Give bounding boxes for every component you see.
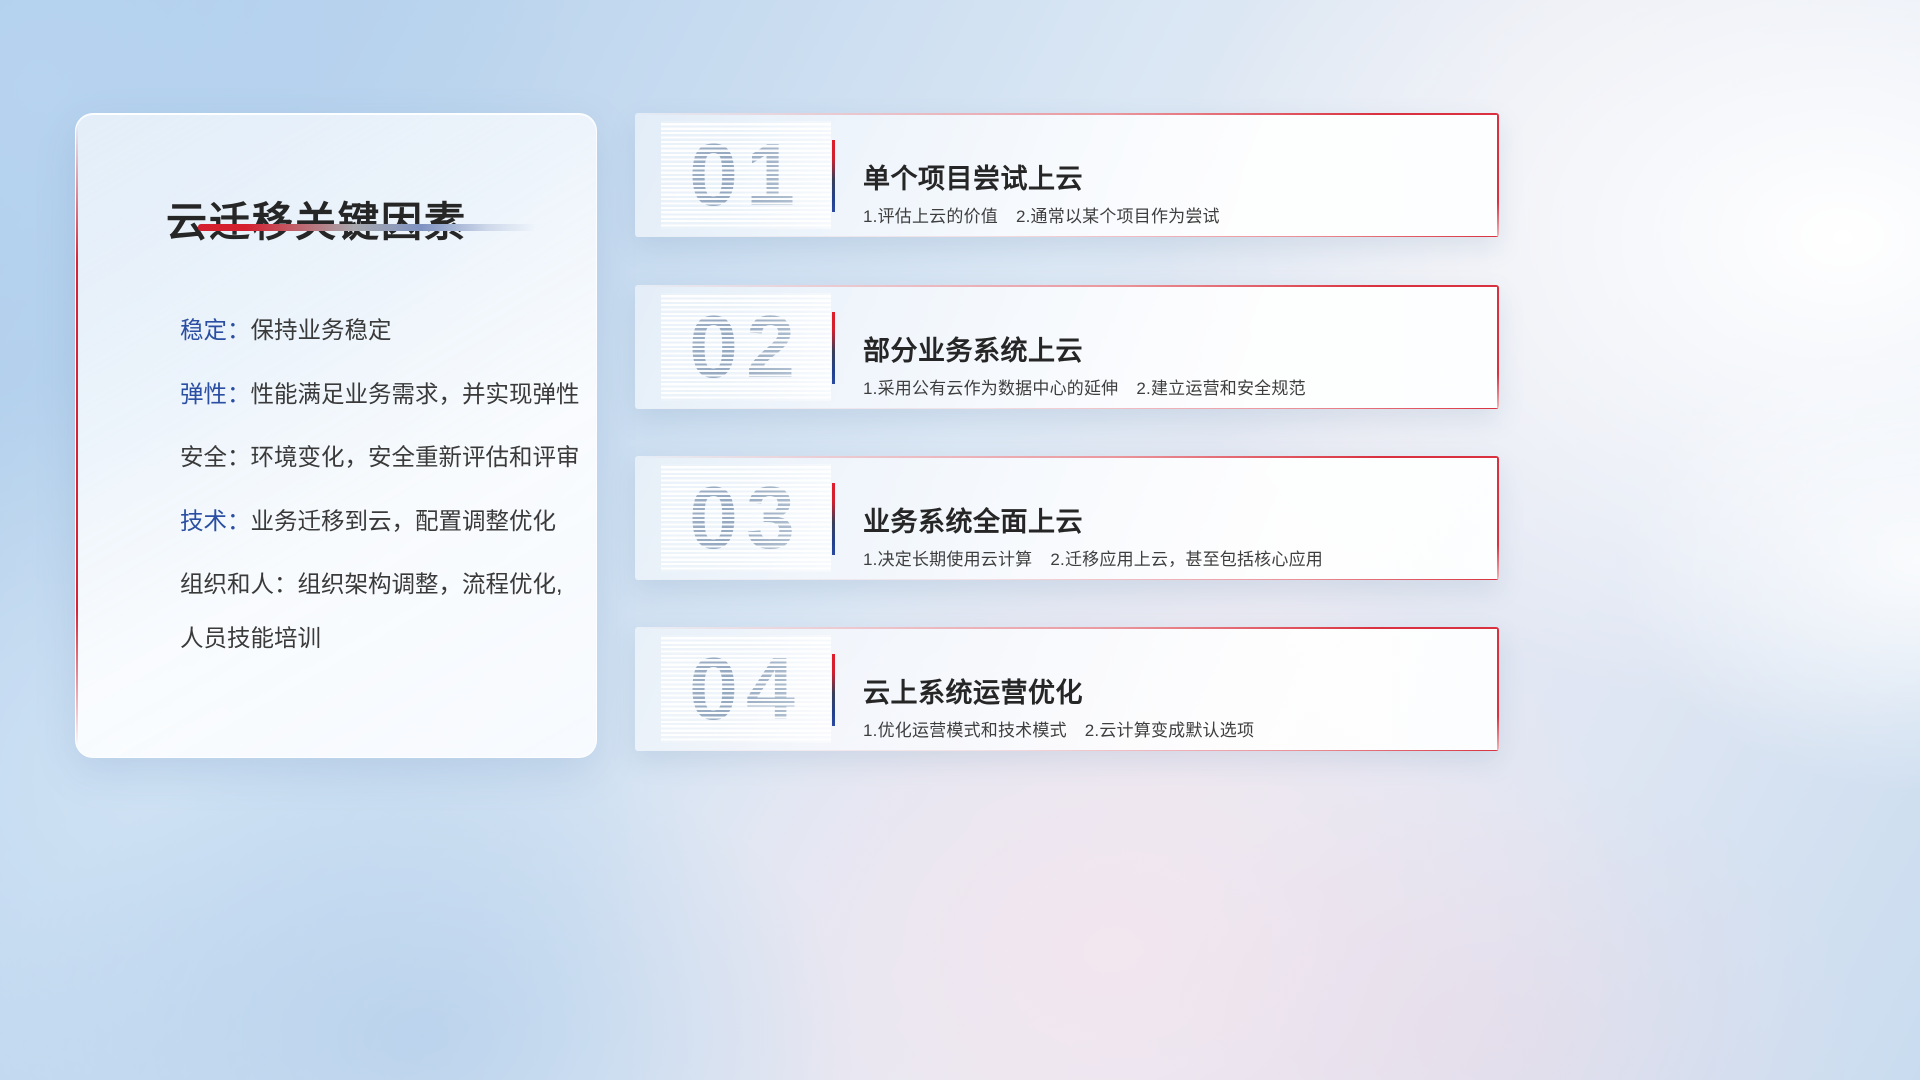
card-top-accent-line bbox=[635, 113, 1499, 115]
card-bottom-accent-line bbox=[635, 750, 1499, 752]
step-points: 1.决定长期使用云计算2.迁移应用上云，甚至包括核心应用 bbox=[863, 545, 1323, 570]
step-point-2: 2.建立运营和安全规范 bbox=[1136, 379, 1305, 398]
step-point-2: 2.云计算变成默认选项 bbox=[1085, 721, 1254, 740]
step-point-1: 1.优化运营模式和技术模式 bbox=[863, 721, 1067, 740]
step-card-03[interactable]: 03 业务系统全面上云 1.决定长期使用云计算2.迁移应用上云，甚至包括核心应用 bbox=[635, 456, 1499, 580]
list-item-label: 安全： bbox=[180, 444, 251, 470]
page-title: 云迁移关键因素 bbox=[166, 188, 467, 248]
card-top-accent-line bbox=[635, 456, 1499, 458]
step-point-2: 2.迁移应用上云，甚至包括核心应用 bbox=[1050, 550, 1323, 569]
card-right-accent-line bbox=[1497, 627, 1499, 751]
title-underline-gradient bbox=[198, 224, 536, 231]
step-divider-line bbox=[832, 140, 835, 212]
step-divider-line bbox=[832, 483, 835, 555]
step-points: 1.评估上云的价值2.通常以某个项目作为尝试 bbox=[863, 202, 1220, 227]
step-title: 单个项目尝试上云 bbox=[863, 157, 1083, 196]
key-factors-card: 云迁移关键因素 稳定：保持业务稳定 弹性：性能满足业务需求，并实现弹性 安全：环… bbox=[75, 113, 597, 758]
list-item: 技术：业务迁移到云，配置调整优化 bbox=[180, 510, 572, 534]
card-top-accent-line bbox=[635, 627, 1499, 629]
card-right-accent-line bbox=[1497, 113, 1499, 237]
step-title: 云上系统运营优化 bbox=[863, 671, 1083, 710]
list-item-text: 性能满足业务需求，并实现弹性 bbox=[251, 381, 580, 407]
list-item: 弹性：性能满足业务需求，并实现弹性 bbox=[180, 383, 572, 407]
step-points: 1.采用公有云作为数据中心的延伸2.建立运营和安全规范 bbox=[863, 374, 1306, 399]
list-item: 安全：环境变化，安全重新评估和评审 bbox=[180, 446, 572, 470]
card-right-accent-line bbox=[1497, 456, 1499, 580]
step-number-04: 04 bbox=[661, 635, 831, 743]
step-divider-line bbox=[832, 312, 835, 384]
card-bottom-accent-line bbox=[635, 236, 1499, 238]
list-item-text: 环境变化，安全重新评估和评审 bbox=[251, 444, 580, 470]
list-item-text: 组织架构调整，流程优化, bbox=[298, 571, 563, 597]
card-bottom-accent-line bbox=[635, 579, 1499, 581]
list-item-text: 人员技能培训 bbox=[180, 625, 321, 651]
step-number-glyph: 04 bbox=[661, 635, 831, 743]
list-item: 组织和人：组织架构调整，流程优化, bbox=[180, 573, 572, 597]
step-title: 业务系统全面上云 bbox=[863, 500, 1083, 539]
list-item: 稳定：保持业务稳定 bbox=[180, 319, 572, 343]
step-divider-line bbox=[832, 654, 835, 726]
list-item-label: 稳定： bbox=[180, 317, 251, 343]
card-top-accent-line bbox=[635, 285, 1499, 287]
card-right-accent-line bbox=[1497, 285, 1499, 409]
step-number-glyph: 01 bbox=[661, 121, 831, 229]
step-card-01[interactable]: 01 单个项目尝试上云 1.评估上云的价值2.通常以某个项目作为尝试 bbox=[635, 113, 1499, 237]
list-item-text: 业务迁移到云，配置调整优化 bbox=[251, 508, 557, 534]
card-bottom-accent-line bbox=[635, 408, 1499, 410]
list-item-label: 组织和人： bbox=[180, 571, 298, 597]
step-point-1: 1.采用公有云作为数据中心的延伸 bbox=[863, 379, 1118, 398]
step-point-1: 1.决定长期使用云计算 bbox=[863, 550, 1032, 569]
step-number-glyph: 02 bbox=[661, 293, 831, 401]
step-point-2: 2.通常以某个项目作为尝试 bbox=[1016, 207, 1220, 226]
step-number-02: 02 bbox=[661, 293, 831, 401]
list-item-label: 弹性： bbox=[180, 381, 251, 407]
step-title: 部分业务系统上云 bbox=[863, 329, 1083, 368]
key-factors-list: 稳定：保持业务稳定 弹性：性能满足业务需求，并实现弹性 安全：环境变化，安全重新… bbox=[180, 319, 572, 650]
step-point-1: 1.评估上云的价值 bbox=[863, 207, 998, 226]
step-number-01: 01 bbox=[661, 121, 831, 229]
list-item-text: 保持业务稳定 bbox=[251, 317, 392, 343]
slide-canvas: 云迁移关键因素 稳定：保持业务稳定 弹性：性能满足业务需求，并实现弹性 安全：环… bbox=[0, 0, 1920, 1080]
list-item-label: 技术： bbox=[180, 508, 251, 534]
step-number-03: 03 bbox=[661, 464, 831, 572]
step-number-glyph: 03 bbox=[661, 464, 831, 572]
step-card-04[interactable]: 04 云上系统运营优化 1.优化运营模式和技术模式2.云计算变成默认选项 bbox=[635, 627, 1499, 751]
step-points: 1.优化运营模式和技术模式2.云计算变成默认选项 bbox=[863, 716, 1254, 741]
list-item-continuation: 人员技能培训 bbox=[180, 627, 572, 651]
step-card-02[interactable]: 02 部分业务系统上云 1.采用公有云作为数据中心的延伸2.建立运营和安全规范 bbox=[635, 285, 1499, 409]
